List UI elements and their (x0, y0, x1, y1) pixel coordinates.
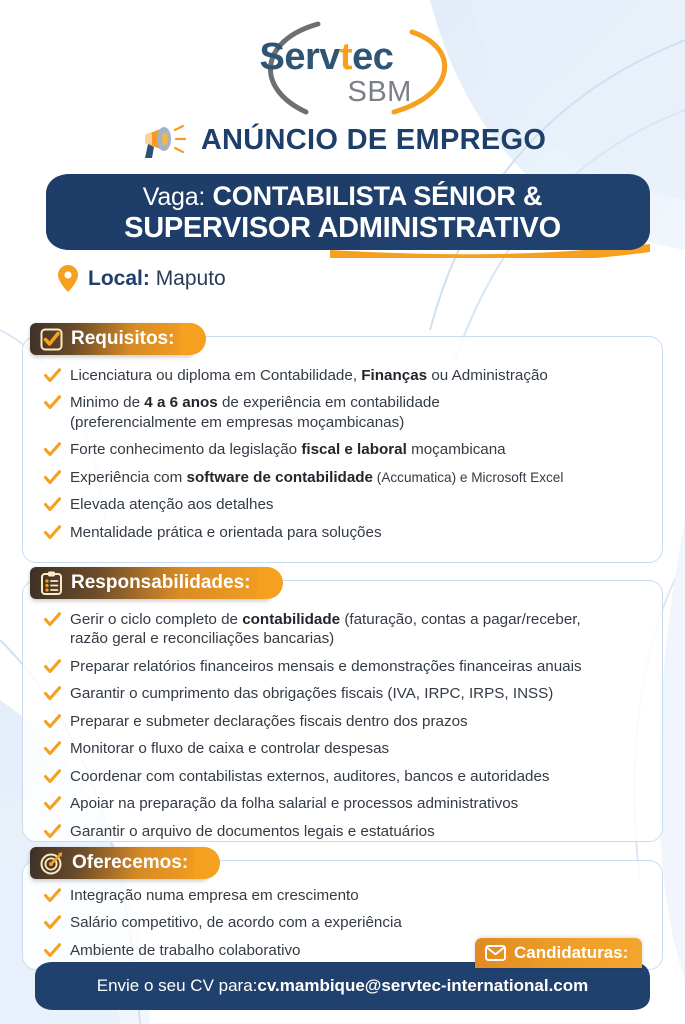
list-item-text: Elevada atenção aos detalhes (70, 495, 274, 514)
list-item-text: Experiência com software de contabilidad… (70, 468, 563, 487)
logo-name-part2: ec (352, 36, 393, 78)
section-header-responsabilidades: Responsabilidades: (30, 567, 271, 599)
check-icon (44, 714, 61, 729)
envelope-icon (485, 945, 506, 961)
banner-label: Vaga: (143, 183, 205, 211)
job-title-banner: Vaga: CONTABILISTA SÉNIOR & SUPERVISOR A… (0, 172, 685, 258)
list-item-text: Gerir o ciclo completo de contabilidade … (70, 610, 581, 649)
footer-text: Envie o seu CV para:cv.mambique@servtec-… (0, 976, 685, 996)
responsabilidades-list: Gerir o ciclo completo de contabilidade … (44, 610, 649, 849)
location-label: Local: (88, 267, 150, 290)
list-item: Salário competitivo, de acordo com a exp… (44, 913, 649, 932)
section-title-requisitos: Requisitos: (71, 328, 174, 350)
list-item: Preparar e submeter declarações fiscais … (44, 712, 649, 731)
list-item-text: Preparar e submeter declarações fiscais … (70, 712, 468, 731)
check-icon (44, 525, 61, 540)
announcement-header: ANÚNCIO DE EMPREGO (0, 116, 685, 164)
check-icon (44, 395, 61, 410)
check-icon (44, 612, 61, 627)
list-item: Forte conhecimento da legislação fiscal … (44, 440, 649, 459)
section-title-responsabilidades: Responsabilidades: (71, 572, 251, 594)
check-icon (44, 824, 61, 839)
map-pin-icon (58, 265, 78, 292)
list-item-text: Integração numa empresa em crescimento (70, 886, 359, 905)
company-logo: Servtec SBM (0, 18, 685, 118)
requisitos-list: Licenciatura ou diploma em Contabilidade… (44, 366, 649, 550)
logo-subtitle: SBM (348, 78, 412, 107)
job-advert-poster: Servtec SBM ANÚNCIO DE EMPREGO Vaga: (0, 0, 685, 1024)
checkbox-icon (40, 328, 63, 351)
list-item: Monitorar o fluxo de caixa e controlar d… (44, 739, 649, 758)
footer-bar: Envie o seu CV para:cv.mambique@servtec-… (0, 962, 685, 1010)
clipboard-icon (40, 571, 63, 595)
list-item: Garantir o arquivo de documentos legais … (44, 822, 649, 841)
list-item-text: Coordenar com contabilistas externos, au… (70, 767, 550, 786)
section-header-oferecemos: Oferecemos: (30, 847, 208, 879)
check-icon (44, 915, 61, 930)
logo-name-accent: t (340, 36, 352, 78)
list-item: Minimo de 4 a 6 anos de experiência em c… (44, 393, 649, 432)
list-item-text: Minimo de 4 a 6 anos de experiência em c… (70, 393, 440, 432)
section-header-requisitos: Requisitos: (30, 323, 194, 355)
check-icon (44, 442, 61, 457)
list-item-text: Ambiente de trabalho colaborativo (70, 941, 301, 960)
check-icon (44, 659, 61, 674)
list-item: Preparar relatórios financeiros mensais … (44, 657, 649, 676)
megaphone-icon (139, 118, 191, 162)
section-title-oferecemos: Oferecemos: (72, 852, 188, 874)
banner-line-2: SUPERVISOR ADMINISTRATIVO (0, 213, 685, 244)
check-icon (44, 470, 61, 485)
list-item-text: Forte conhecimento da legislação fiscal … (70, 440, 506, 459)
list-item: Licenciatura ou diploma em Contabilidade… (44, 366, 649, 385)
list-item: Gerir o ciclo completo de contabilidade … (44, 610, 649, 649)
check-icon (44, 888, 61, 903)
banner-text-block: Vaga: CONTABILISTA SÉNIOR & SUPERVISOR A… (0, 182, 685, 244)
list-item-text: Garantir o arquivo de documentos legais … (70, 822, 435, 841)
footer-prefix: Envie o seu CV para: (97, 976, 258, 995)
list-item-text: Garantir o cumprimento das obrigações fi… (70, 684, 553, 703)
applications-badge: Candidaturas: (475, 938, 642, 968)
list-item-text: Monitorar o fluxo de caixa e controlar d… (70, 739, 389, 758)
list-item: Apoiar na preparação da folha salarial e… (44, 794, 649, 813)
check-icon (44, 741, 61, 756)
target-dart-icon (40, 851, 64, 875)
list-item-text: Apoiar na preparação da folha salarial e… (70, 794, 518, 813)
check-icon (44, 368, 61, 383)
check-icon (44, 796, 61, 811)
logo-name-part1: Serv (260, 36, 340, 78)
check-icon (44, 943, 61, 958)
list-item-text: Licenciatura ou diploma em Contabilidade… (70, 366, 548, 385)
list-item-text: Salário competitivo, de acordo com a exp… (70, 913, 402, 932)
applications-label: Candidaturas: (514, 943, 628, 963)
list-item-text: Mentalidade prática e orientada para sol… (70, 523, 382, 542)
location-row: Local: Maputo (58, 265, 226, 292)
check-icon (44, 769, 61, 784)
check-icon (44, 497, 61, 512)
footer-email[interactable]: cv.mambique@servtec-international.com (257, 976, 588, 995)
list-item: Integração numa empresa em crescimento (44, 886, 649, 905)
list-item: Experiência com software de contabilidad… (44, 468, 649, 487)
check-icon (44, 686, 61, 701)
announcement-title: ANÚNCIO DE EMPREGO (201, 124, 546, 157)
location-value: Maputo (156, 267, 226, 290)
list-item: Mentalidade prática e orientada para sol… (44, 523, 649, 542)
list-item: Coordenar com contabilistas externos, au… (44, 767, 649, 786)
logo-wordmark: Servtec (260, 38, 394, 76)
location-text: Local: Maputo (88, 267, 226, 291)
list-item: Garantir o cumprimento das obrigações fi… (44, 684, 649, 703)
list-item: Elevada atenção aos detalhes (44, 495, 649, 514)
list-item-text: Preparar relatórios financeiros mensais … (70, 657, 582, 676)
banner-line-1: CONTABILISTA SÉNIOR & (213, 181, 543, 211)
